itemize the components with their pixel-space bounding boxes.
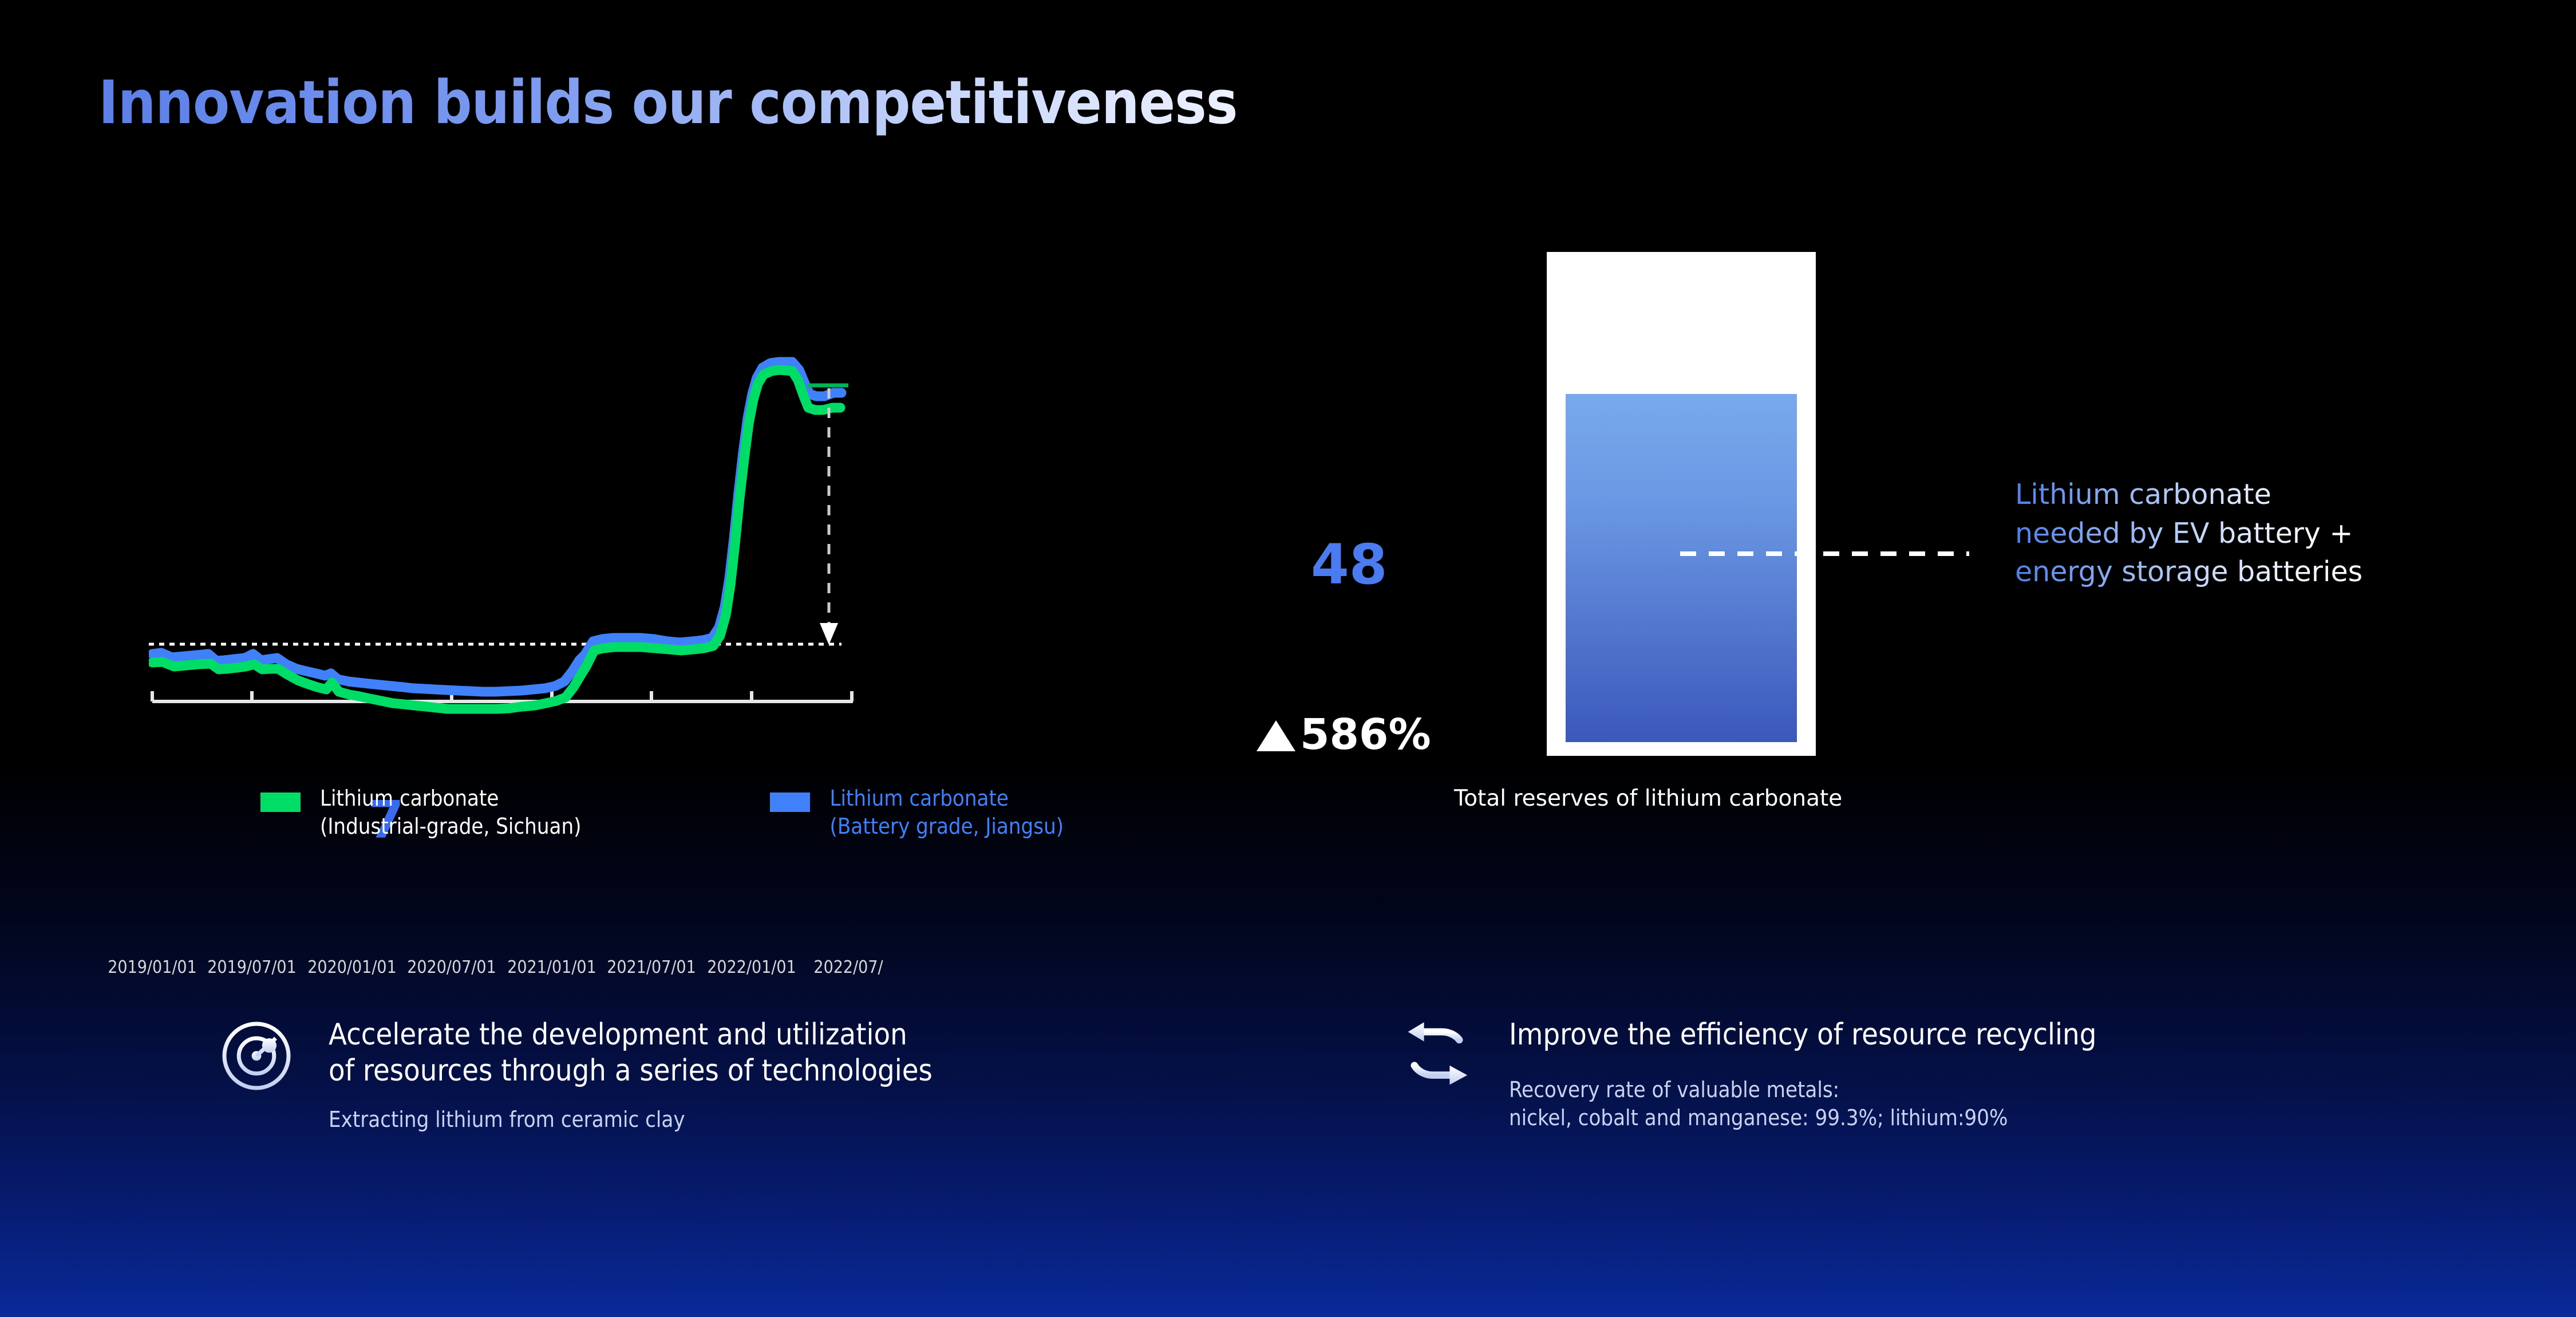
percent-change-value: 586%	[1300, 710, 1431, 759]
x-tick-3: 2020/07/01	[407, 957, 496, 977]
reserves-graphic	[1547, 252, 1816, 756]
feature-subtitle: Extracting lithium from ceramic clay	[329, 1106, 933, 1134]
x-tick-5: 2021/07/01	[607, 957, 696, 977]
legend-item-battery-grade[interactable]: Lithium carbonate (Battery grade, Jiangs…	[770, 784, 1064, 840]
feature-text-block: Accelerate the development and utilizati…	[329, 1012, 933, 1134]
legend-item-industrial-grade[interactable]: Lithium carbonate (Industrial-grade, Sic…	[260, 784, 581, 840]
x-tick-0: 2019/01/01	[108, 957, 197, 977]
recycle-loop-icon	[1397, 1016, 1477, 1096]
x-tick-2: 2020/01/01	[307, 957, 397, 977]
reserves-fill-bar	[1566, 394, 1797, 742]
reserves-caption: Total reserves of lithium carbonate	[1454, 786, 1842, 811]
delta-arrow-head	[820, 623, 838, 645]
slide-canvas: Innovation builds our competitiveness	[0, 0, 2576, 1317]
feature-block-resource-recycling: Improve the efficiency of resource recyc…	[1397, 1012, 2096, 1132]
legend-label-industrial-grade: Lithium carbonate (Industrial-grade, Sic…	[320, 784, 581, 840]
feature-title: Accelerate the development and utilizati…	[329, 1017, 933, 1090]
legend-swatch-blue	[770, 792, 810, 812]
x-tick-4: 2021/01/01	[507, 957, 596, 977]
x-tick-7: 2022/07/	[813, 957, 883, 977]
percent-change-label: 586%	[1257, 710, 1431, 759]
chart-legend: Lithium carbonate (Industrial-grade, Sic…	[260, 784, 1064, 840]
feature-block-resource-development: Accelerate the development and utilizati…	[216, 1012, 933, 1134]
x-tick-6: 2022/01/01	[707, 957, 796, 977]
reserves-leader-line	[1680, 551, 1969, 556]
x-tick-1: 2019/07/01	[207, 957, 297, 977]
feature-subtitle: Recovery rate of valuable metals: nickel…	[1509, 1076, 2096, 1131]
feature-text-block: Improve the efficiency of resource recyc…	[1509, 1012, 2096, 1132]
reserves-container	[1547, 252, 1816, 756]
reserves-note-text: Lithium carbonate needed by EV battery +…	[2015, 475, 2370, 592]
radar-target-icon	[216, 1016, 297, 1096]
end-value-label: 48	[1311, 533, 1388, 597]
legend-swatch-green	[260, 792, 301, 812]
feature-title: Improve the efficiency of resource recyc…	[1509, 1017, 2096, 1053]
legend-label-battery-grade: Lithium carbonate (Battery grade, Jiangs…	[829, 784, 1064, 840]
up-triangle-icon	[1257, 720, 1295, 751]
page-title: Innovation builds our competitiveness	[98, 68, 1237, 137]
